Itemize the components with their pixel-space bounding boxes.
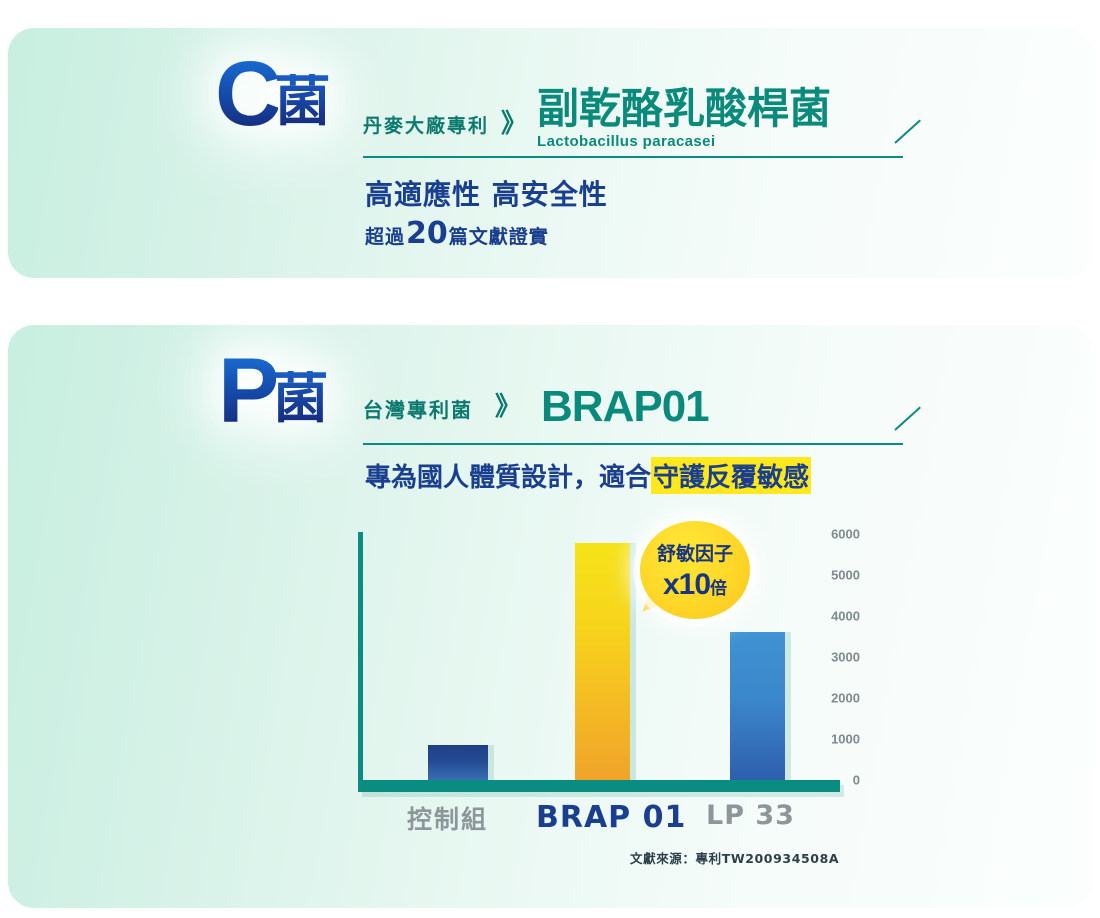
panel-c-feature: 高適應性 高安全性 xyxy=(365,173,608,213)
chevron-double-right-icon: 》 xyxy=(501,103,525,150)
y-tick-5000: 5000 xyxy=(816,568,860,583)
bar-lp33 xyxy=(730,632,785,780)
chart-baseline xyxy=(358,780,840,792)
badge-c-strain: C 菌 xyxy=(215,55,330,134)
panel-p-title: BRAP01 xyxy=(541,385,709,429)
panel-p-eyebrow: 台灣專利菌 xyxy=(363,394,473,429)
y-tick-1000: 1000 xyxy=(816,732,860,747)
badge-cjk-p: 菌 xyxy=(272,371,328,427)
badge-letter-c: C xyxy=(215,55,278,134)
badge-p-strain: P 菌 xyxy=(218,352,328,431)
y-tick-3000: 3000 xyxy=(816,650,860,665)
y-tick-6000: 6000 xyxy=(816,527,860,542)
divider-tail-c xyxy=(894,120,921,144)
bar-control xyxy=(428,745,488,780)
chart-source-note: 文獻來源：專利TW200934508A xyxy=(630,848,839,867)
bar-brap01 xyxy=(575,543,630,780)
panel-c-title-row: 丹麥大廠專利 》 副乾酪乳酸桿菌 Lactobacillus paracasei xyxy=(363,88,831,150)
divider-tail-p xyxy=(894,407,921,431)
sensitivity-factor-bar-chart: 6000 5000 4000 3000 2000 1000 0 控制組 BRAP… xyxy=(300,528,860,878)
panel-c-scientific-name: Lactobacillus paracasei xyxy=(537,133,831,150)
x-label-brap01: BRAP 01 xyxy=(536,800,686,835)
panel-c-eyebrow: 丹麥大廠專利 xyxy=(363,111,489,150)
panel-c-strain: C 菌 丹麥大廠專利 》 副乾酪乳酸桿菌 Lactobacillus parac… xyxy=(8,28,1092,278)
bubble-line2: x10 倍 xyxy=(663,568,727,602)
bubble-line1: 舒敏因子 xyxy=(657,539,733,566)
evidence-suffix: 篇文獻證實 xyxy=(449,222,549,249)
y-tick-4000: 4000 xyxy=(816,609,860,624)
panel-p-description: 專為國人體質設計，適合 守護反覆敏感 xyxy=(365,457,811,494)
x-label-lp33: LP 33 xyxy=(706,800,795,831)
x-label-control: 控制組 xyxy=(407,800,488,836)
bubble-unit: 倍 xyxy=(710,574,727,599)
chevron-double-right-icon-p: 》 xyxy=(495,386,519,429)
badge-letter-p: P xyxy=(218,352,276,431)
panel-p-description-plain: 專為國人體質設計，適合 xyxy=(365,457,651,494)
panel-c-evidence: 超過 20 篇文獻證實 xyxy=(365,216,549,251)
panel-c-title: 副乾酪乳酸桿菌 xyxy=(537,88,831,130)
evidence-prefix: 超過 xyxy=(365,222,405,249)
panel-c-divider xyxy=(363,156,903,158)
sensitivity-factor-bubble: 舒敏因子 x10 倍 xyxy=(640,521,750,619)
panel-c-header: 丹麥大廠專利 》 副乾酪乳酸桿菌 Lactobacillus paracasei xyxy=(363,88,831,150)
panel-p-divider xyxy=(363,443,903,445)
panel-p-title-row: 台灣專利菌 》 BRAP01 xyxy=(363,385,709,429)
evidence-number: 20 xyxy=(405,216,449,251)
bubble-multiplier: x10 xyxy=(663,568,710,602)
chart-y-axis xyxy=(358,532,363,782)
y-tick-2000: 2000 xyxy=(816,691,860,706)
badge-cjk-c: 菌 xyxy=(274,74,330,130)
panel-p-header: 台灣專利菌 》 BRAP01 xyxy=(363,385,709,429)
panel-p-description-highlight: 守護反覆敏感 xyxy=(651,457,811,494)
